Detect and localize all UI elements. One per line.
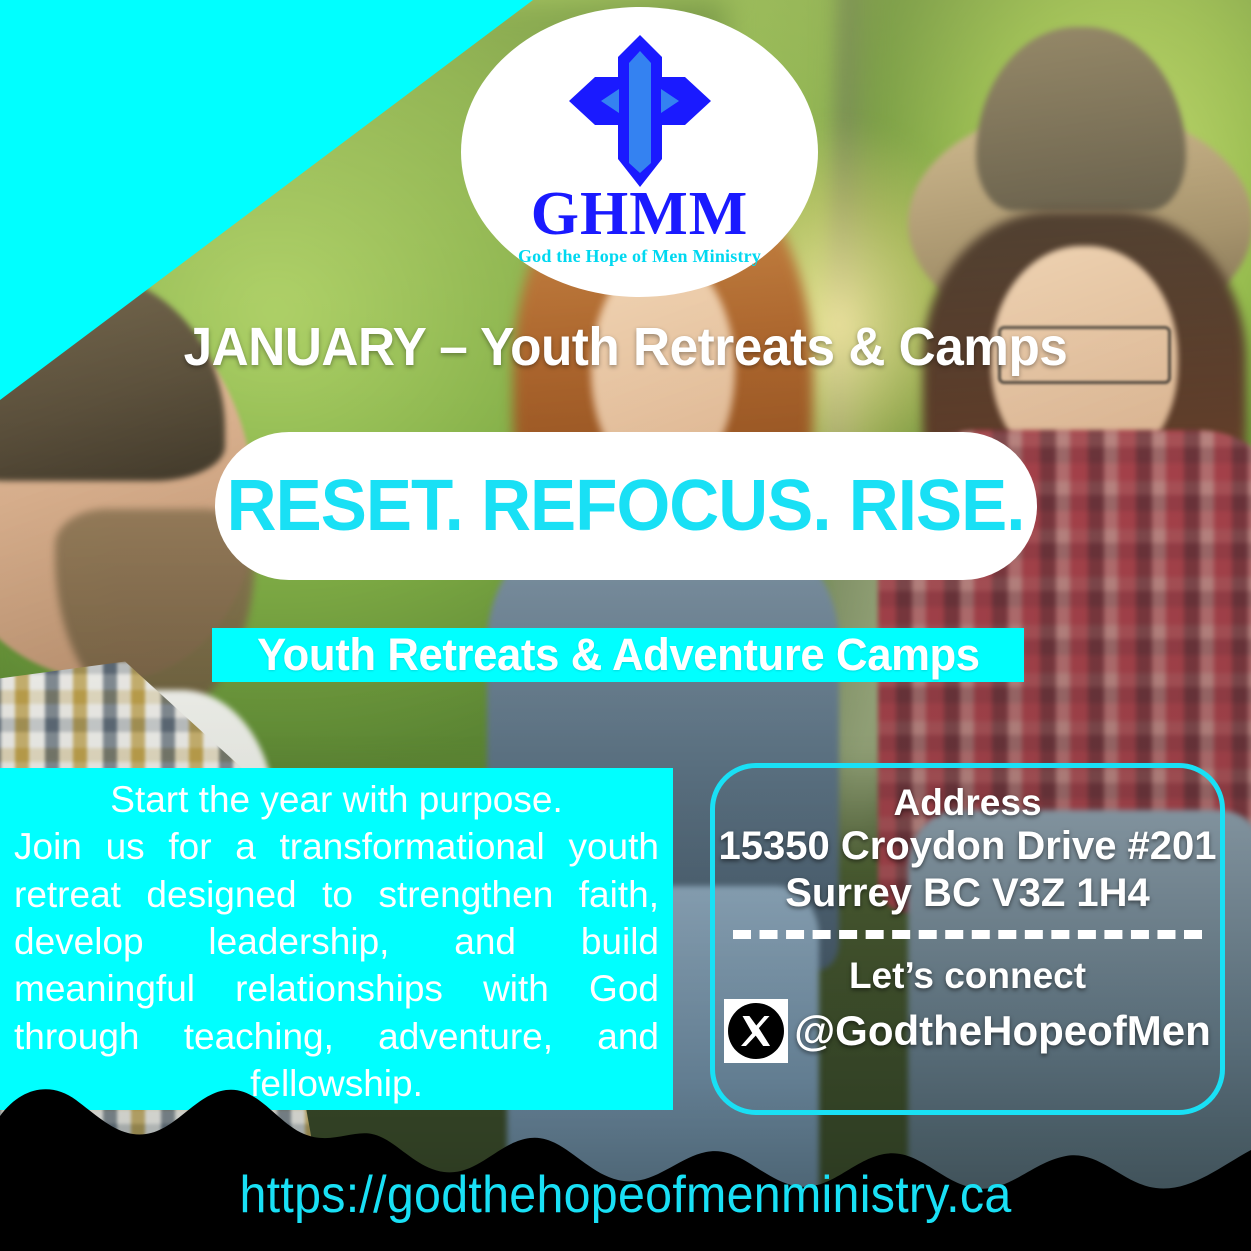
x-twitter-icon[interactable] xyxy=(724,999,788,1063)
social-handle-row[interactable]: @GodtheHopeofMen xyxy=(724,999,1211,1063)
person-right-hat-crown xyxy=(976,27,1186,211)
x-icon-circle xyxy=(728,1003,784,1059)
body-copy-panel: Start the year with purpose. Join us for… xyxy=(0,768,673,1110)
poster-canvas: Youth Series Reserve Your Spot GHMM God … xyxy=(0,0,1251,1251)
logo-wordmark: GHMM xyxy=(531,185,749,244)
cross-icon xyxy=(565,31,715,191)
ghmm-logo-badge: GHMM God the Hope of Men Ministry xyxy=(461,7,818,297)
address-heading: Address xyxy=(893,782,1041,823)
address-contact-card: Address 15350 Croydon Drive #201 Surrey … xyxy=(710,763,1225,1115)
subtitle-text: Youth Retreats & Adventure Camps xyxy=(257,629,979,681)
body-paragraph: Join us for a transformational youth ret… xyxy=(14,823,659,1107)
address-line-1: 15350 Croydon Drive #201 xyxy=(718,823,1216,869)
body-lead-line: Start the year with purpose. xyxy=(14,776,659,823)
address-line-2: Surrey BC V3Z 1H4 xyxy=(785,870,1150,916)
footer-url[interactable]: https://godthehopeofmenministry.ca xyxy=(44,1165,1207,1225)
connect-label: Let’s connect xyxy=(849,955,1086,997)
hero-headline: RESET. REFOCUS. RISE. xyxy=(227,465,1025,547)
card-divider xyxy=(733,930,1202,939)
social-handle-text[interactable]: @GodtheHopeofMen xyxy=(794,1007,1211,1055)
subtitle-band: Youth Retreats & Adventure Camps xyxy=(212,628,1024,682)
logo-tagline: God the Hope of Men Ministry xyxy=(518,246,761,267)
hero-pill: RESET. REFOCUS. RISE. xyxy=(215,432,1037,580)
month-headline: JANUARY – Youth Retreats & Camps xyxy=(31,316,1219,378)
